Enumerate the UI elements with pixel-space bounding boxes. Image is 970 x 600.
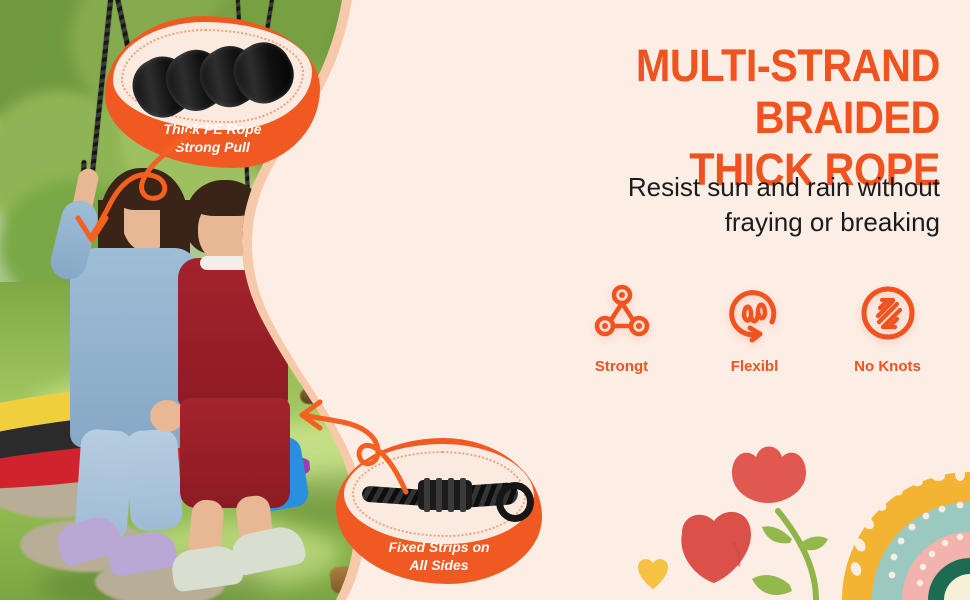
feature-list: Strongt Flexibl (555, 282, 955, 375)
flower-stem (752, 511, 828, 600)
boy-shorts (180, 398, 290, 508)
boy-hand (292, 178, 322, 208)
tree-canopy (330, 0, 470, 150)
feature-label-flexible: Flexibl (688, 358, 821, 375)
feature-item-no-knots: No Knots (821, 282, 954, 375)
swing-rope (342, 120, 366, 349)
tree-canopy (280, 190, 460, 340)
right-content-panel: MULTI-STRAND BRAIDED THICK ROPE Resist s… (450, 0, 970, 600)
callout-caption-line2: Strong Pull (105, 138, 320, 156)
boy-sleeve-stripe (266, 239, 313, 266)
subtitle-line2: fraying or breaking (490, 205, 940, 240)
circular-arrow-wavy-rope-icon (724, 282, 786, 344)
boy-arm (263, 189, 315, 261)
page-subtitle: Resist sun and rain without fraying or b… (490, 170, 940, 240)
wooden-log (300, 388, 470, 413)
subtitle-line1: Resist sun and rain without (490, 170, 940, 205)
rainbow-graphic (842, 467, 970, 600)
tree-trunk (300, 200, 354, 390)
braided-rope-circle-icon (857, 282, 919, 344)
flower-red-top (732, 447, 806, 504)
feature-label-strong: Strongt (555, 358, 688, 375)
decorative-illustration (620, 415, 970, 600)
callout-caption: Thick PE Rope Strong Pull (105, 120, 320, 156)
heart-yellow (638, 559, 668, 589)
girl-hand (150, 400, 184, 432)
feature-item-flexible: Flexibl (688, 282, 821, 375)
flower-red-heart (681, 512, 751, 583)
callout-thick-pe-rope: Thick PE Rope Strong Pull (105, 16, 320, 168)
girl-jeans (125, 428, 184, 531)
rope-triangle-knot-icon (591, 282, 653, 344)
flower-bush (360, 334, 450, 374)
feature-label-no-knots: No Knots (821, 358, 954, 375)
tree-branch (333, 198, 378, 282)
boy-sleeve (256, 240, 323, 299)
product-banner: Thick PE Rope Strong Pull Fixed Strips o… (0, 0, 970, 600)
callout-caption-line1: Thick PE Rope (105, 120, 320, 138)
headline-line1: MULTI-STRAND BRAIDED (636, 40, 940, 143)
feature-item-strong: Strongt (555, 282, 688, 375)
tree-branch (265, 203, 318, 297)
